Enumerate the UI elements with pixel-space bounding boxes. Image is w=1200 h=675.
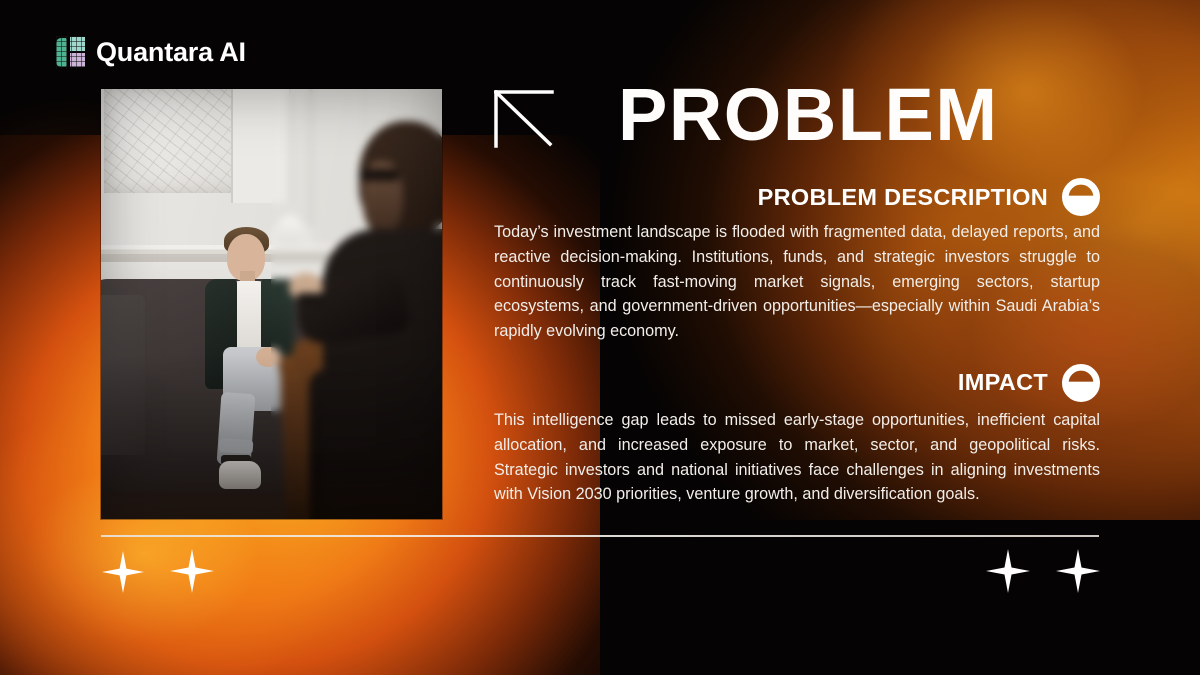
section-problem-description: PROBLEM DESCRIPTION Today’s investment l… [494, 178, 1100, 344]
section-title-problem-description: PROBLEM DESCRIPTION [758, 184, 1048, 211]
page-title: PROBLEM [618, 78, 999, 152]
brand-logo[interactable]: Quantara AI [56, 36, 246, 69]
slide-root: Quantara AI [0, 0, 1200, 675]
section-body-impact: This intelligence gap leads to missed ea… [494, 408, 1100, 507]
sparkle-icon [102, 551, 144, 593]
horizontal-divider [101, 535, 1099, 537]
sparkle-icon [170, 549, 214, 593]
sparkle-icon [986, 549, 1030, 593]
arrow-up-left-icon [494, 90, 554, 148]
sparkle-icon [1056, 549, 1100, 593]
section-body-problem-description: Today’s investment landscape is flooded … [494, 220, 1100, 344]
section-header-impact: IMPACT [494, 364, 1100, 402]
section-impact: IMPACT This intelligence gap leads to mi… [494, 364, 1100, 507]
section-header-problem-description: PROBLEM DESCRIPTION [494, 178, 1100, 216]
half-filled-circle-icon [1062, 364, 1100, 402]
quantara-logo-mark-icon [56, 36, 85, 69]
section-title-impact: IMPACT [958, 369, 1048, 396]
brand-name: Quantara AI [96, 37, 246, 68]
content-column: PROBLEM DESCRIPTION Today’s investment l… [494, 178, 1100, 507]
half-filled-circle-icon [1062, 178, 1100, 216]
slide-photo [101, 89, 442, 519]
